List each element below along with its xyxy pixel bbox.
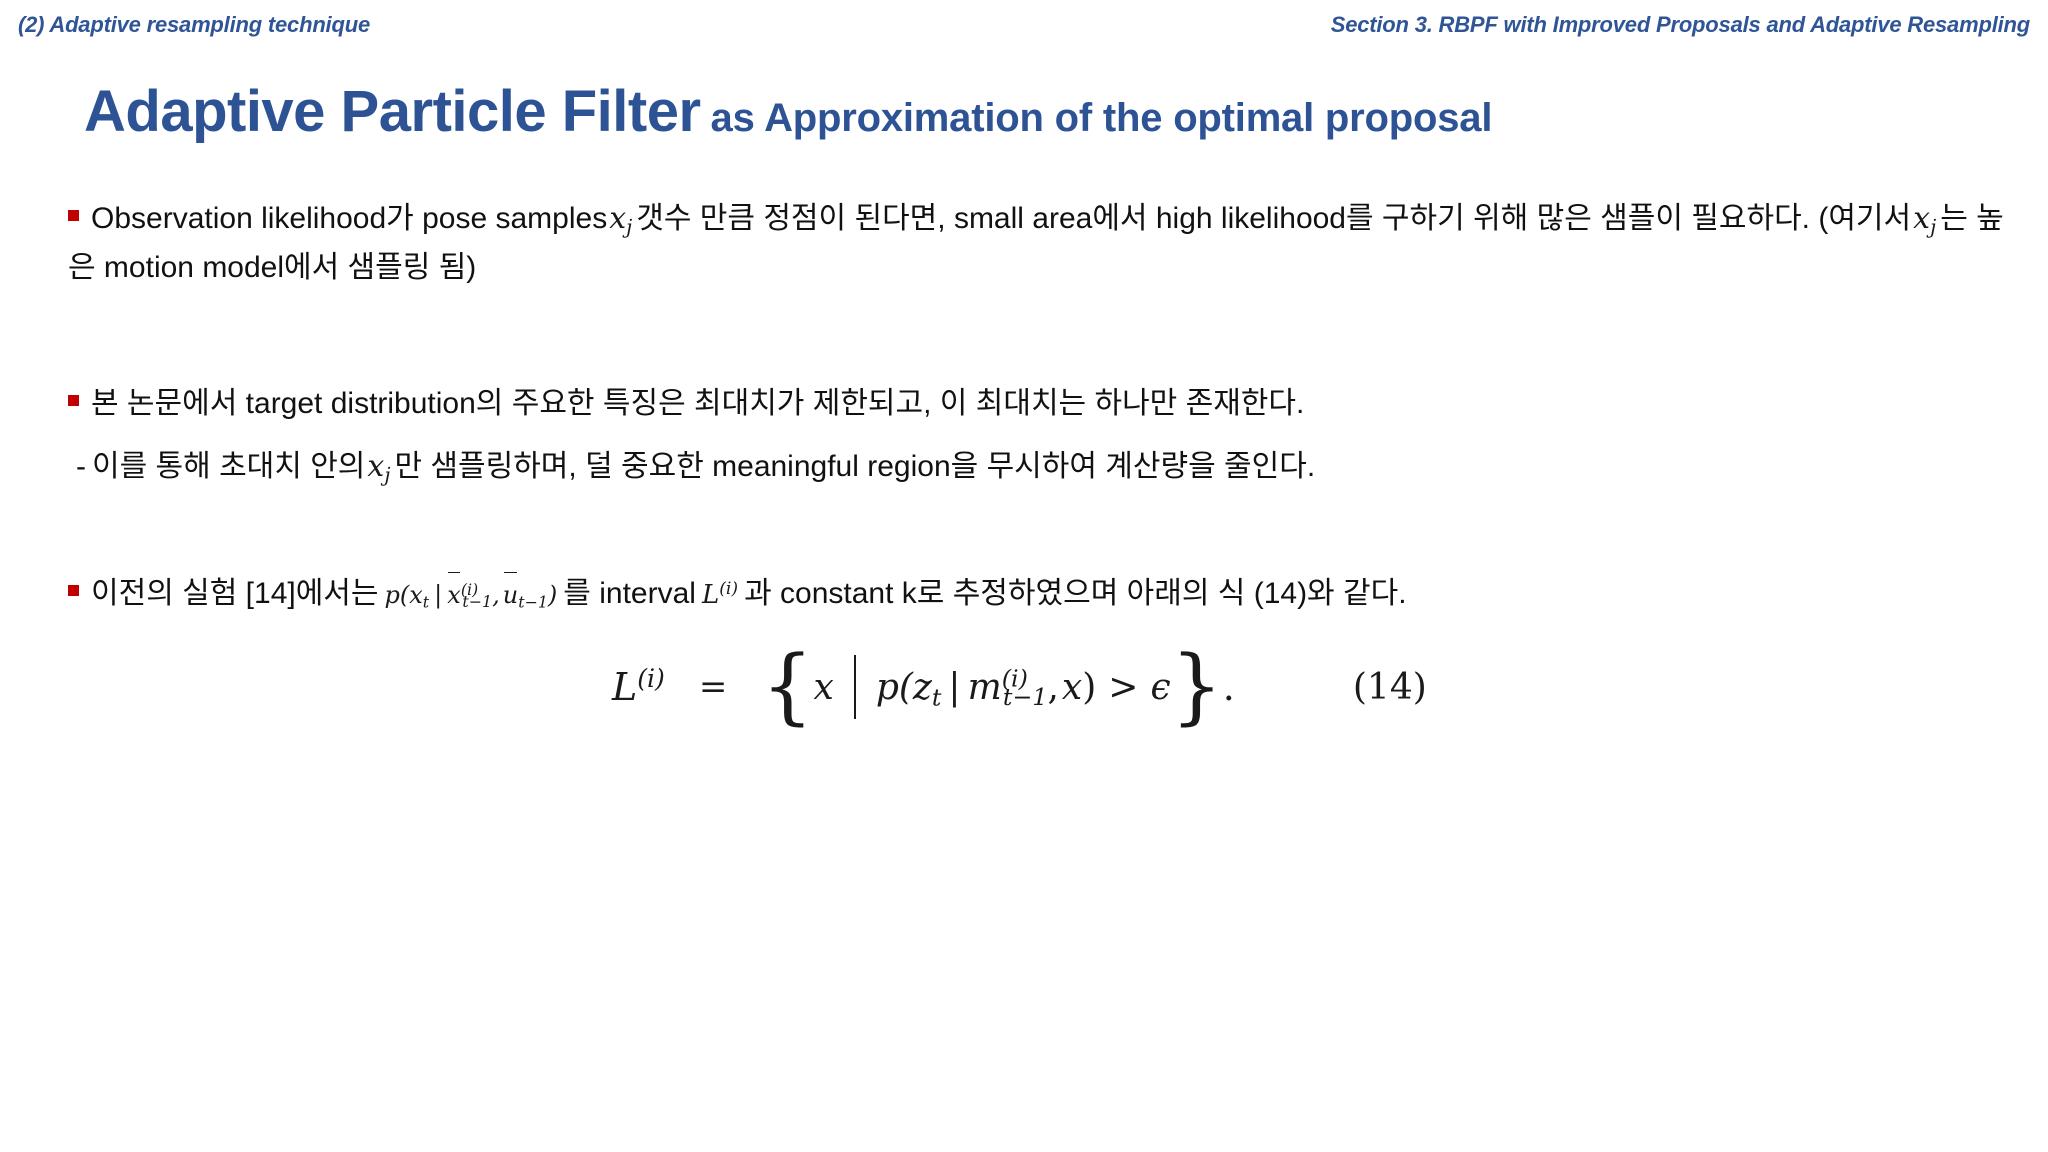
equation-lhs-base: L [612,665,637,709]
slide-canvas: (2) Adaptive resampling technique Sectio… [0,0,2048,1152]
inline-math-motion-model: p(xt|x(i)t−1,ut−1) [385,581,558,609]
sub-bullet-text-a: 이를 통해 초대치 안의 [92,450,365,483]
math-sub: j [1930,216,1936,239]
equation-prob-z-sub: t [932,683,942,711]
inline-math-L-interval: L(i) [702,580,738,610]
equation-set-variable: x [814,667,834,708]
bullet-2-text: 본 논문에서 target distribution의 주요한 특징은 최대치가… [91,387,1304,420]
equation-set-body: x p(zt|m(i)t−1,x) > ϵ [814,655,1171,719]
slide-header: (2) Adaptive resampling technique Sectio… [0,6,2048,44]
equation-lhs-sup: (i) [637,664,665,693]
equation-prob-comma: , [1047,667,1058,708]
bullet-paragraph-2: 본 논문에서 target distribution의 주요한 특징은 최대치가… [68,380,1768,429]
math-open-paren: p( [385,581,410,609]
equation-relation-gt: > [1108,667,1138,708]
equation-open-brace: { [761,664,813,709]
math-sup: (i) [719,579,738,599]
math-base: x [367,449,384,484]
equation-prob-bar: | [948,667,960,708]
math-cond-sub: t−1 [462,592,492,611]
equation-probability-expression: p(zt|m(i)t−1,x) [876,667,1096,708]
dash-marker: - [76,443,86,492]
equation-prob-open: p( [876,667,913,708]
math-close-paren: ) [548,581,557,609]
inline-math-xj-2: xj [1913,201,1936,236]
math-base: x [609,201,626,236]
equation-epsilon: ϵ [1150,667,1170,708]
math-conditional-bar: | [434,581,442,609]
bullet-square-icon [68,585,79,596]
equation-prob-z: z [913,667,932,708]
math-base: x [1913,201,1930,236]
equation-set-divider [854,655,856,719]
math-arg: x [409,581,423,609]
equation-period: . [1223,665,1235,709]
bullet-3-text-a: 이전의 실험 [14]에서는 [91,577,379,610]
bullet-1-text-b: 갯수 만큼 정점이 된다면, small area에서 high likelih… [636,202,1911,235]
equation-prob-m-sub: t−1 [1003,683,1048,711]
header-right-text: Section 3. RBPF with Improved Proposals … [1331,12,2030,38]
equation-equals-sign: = [699,667,728,707]
math-cond-base: x [447,581,461,609]
math-base: L [702,580,719,610]
math-arg-sub: t [423,592,429,611]
bullet-3-text-b: 를 interval [563,577,696,610]
math-u-overbar: u [503,576,518,615]
math-u-sub: t−1 [518,592,548,611]
math-sub: j [626,216,632,239]
equation-prob-close: ) [1082,667,1096,708]
equation-prob-m: m [968,667,1002,708]
equation-prob-x: x [1062,667,1082,708]
bullet-1-text-a: Observation likelihood가 pose samples [91,202,607,235]
bullet-square-icon [68,395,79,406]
sub-bullet-paragraph: -이를 통해 초대치 안의xj만 샘플링하며, 덜 중요한 meaningful… [76,443,1776,492]
title-main-text: Adaptive Particle Filter [84,79,701,144]
math-u-base: u [503,581,518,609]
inline-math-xj-1: xj [609,201,632,236]
page-title: Adaptive Particle Filteras Approximation… [84,78,1492,145]
bullet-paragraph-1: Observation likelihood가 pose samplesxj갯수… [68,195,2013,292]
header-left-text: (2) Adaptive resampling technique [18,12,370,38]
title-subtitle-text: as Approximation of the optimal proposal [711,96,1493,140]
math-comma: , [492,581,500,609]
bullet-paragraph-3: 이전의 실험 [14]에서는p(xt|x(i)t−1,ut−1)를 interv… [68,570,1768,619]
math-cond-overbar: x [447,576,461,615]
bullet-square-icon [68,210,79,221]
equation-lhs: L(i) [612,665,665,709]
bullet-3-text-c: 과 constant k로 추정하였으며 아래의 식 (14)와 같다. [744,577,1406,610]
equation-close-brace: } [1171,664,1223,709]
math-sub: j [384,464,390,487]
display-equation-14: L(i) = { x p(zt|m(i)t−1,x) > ϵ } . (14) [612,655,1427,719]
inline-math-xj-3: xj [367,449,390,484]
equation-number-tag: (14) [1353,667,1427,708]
sub-bullet-text-b: 만 샘플링하며, 덜 중요한 meaningful region을 무시하여 계… [394,450,1315,483]
